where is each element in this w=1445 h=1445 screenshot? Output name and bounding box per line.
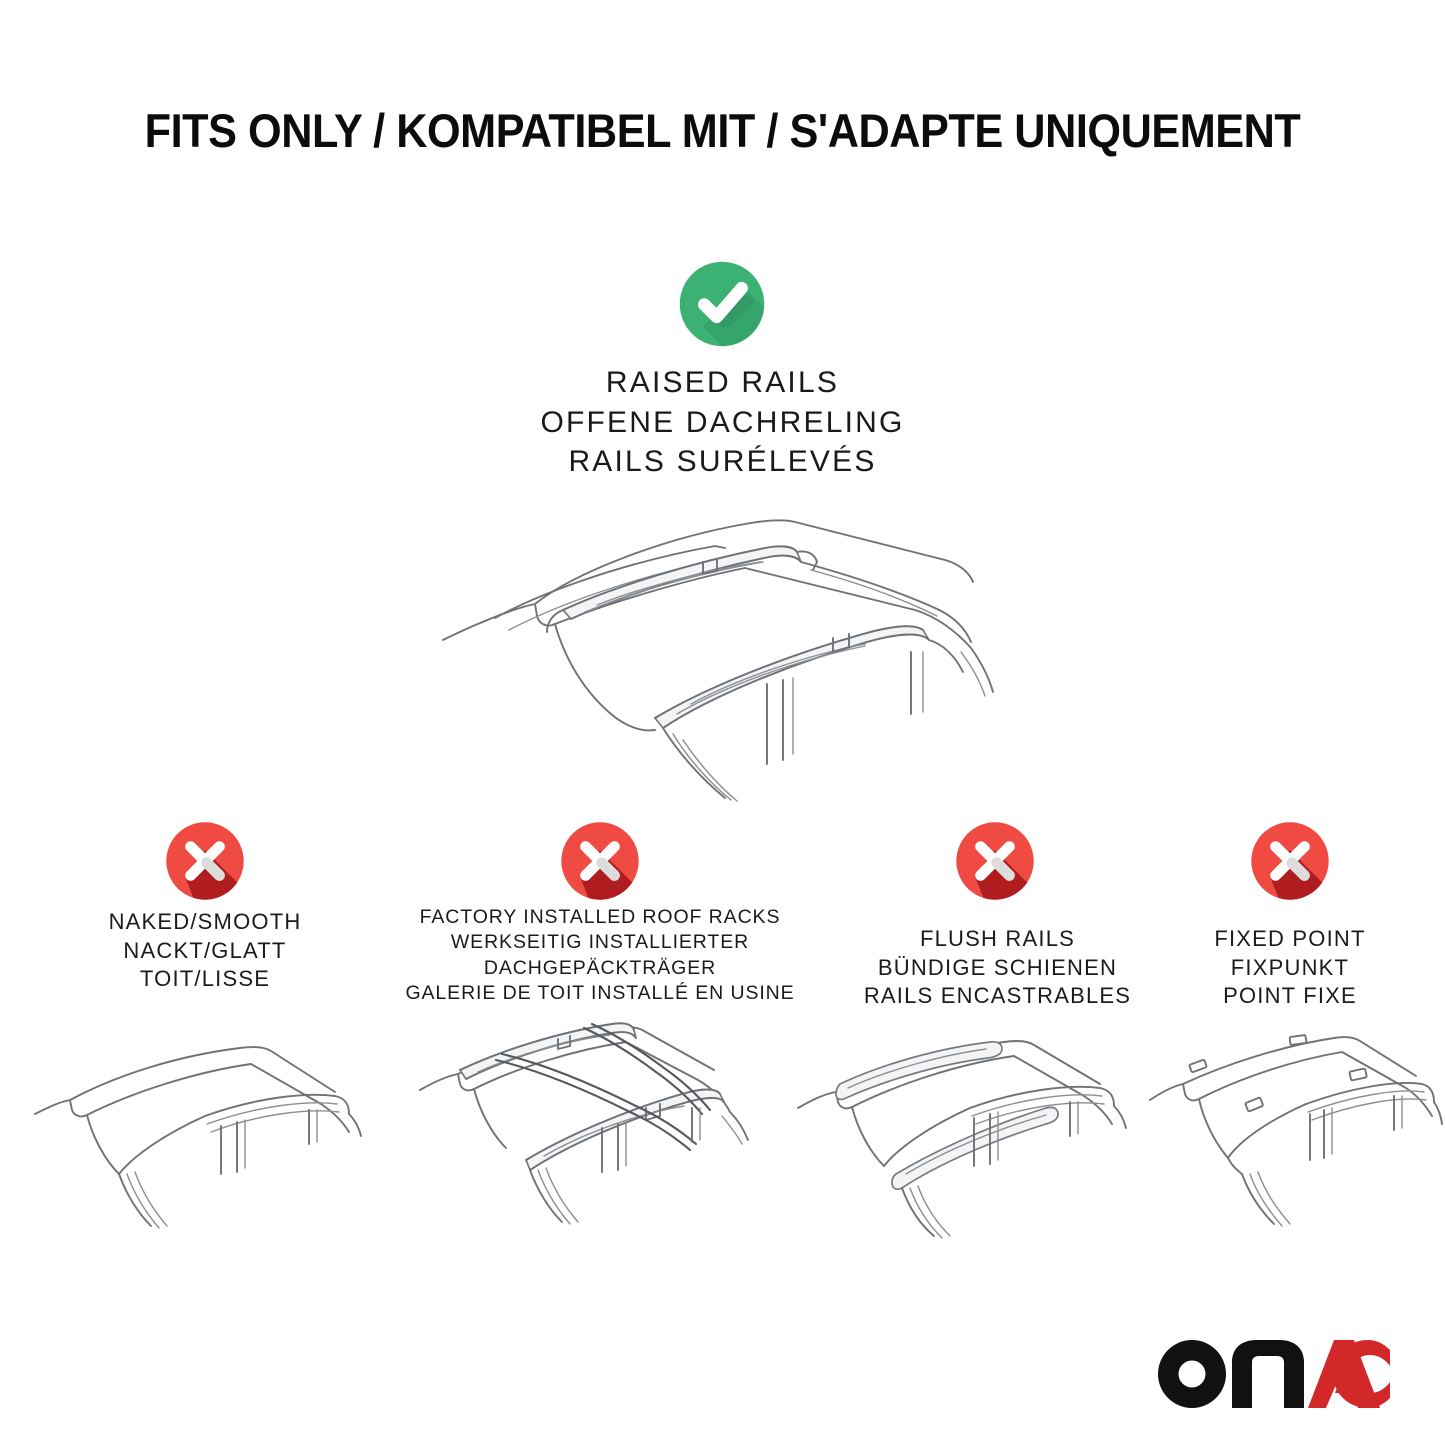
compatible-caption-line-2: OFFENE DACHRELING (0, 403, 1445, 443)
x-circle-icon (1245, 816, 1335, 906)
compatible-caption-line-3: RAILS SURÉLEVÉS (0, 442, 1445, 482)
omac-logo (1158, 1338, 1390, 1410)
car-roof-raised-rails-illustration (415, 492, 1055, 802)
car-roof-fixed-point-illustration (1138, 1022, 1443, 1237)
x-circle-icon (160, 816, 250, 906)
incompatible-1-line-3: TOIT/LISSE (35, 965, 375, 994)
incompatible-2-line-3: DACHGEPÄCKTRÄGER (370, 956, 830, 981)
logo-letter-m (1232, 1340, 1304, 1408)
incompatible-4-line-2: FIXPUNKT (1155, 954, 1425, 983)
check-circle-icon (674, 256, 770, 352)
incompatible-caption-1: NAKED/SMOOTH NACKT/GLATT TOIT/LISSE (35, 908, 375, 994)
incompatible-4-line-1: FIXED POINT (1155, 925, 1425, 954)
incompatible-3-line-2: BÜNDIGE SCHIENEN (825, 954, 1170, 983)
x-circle-icon (950, 816, 1040, 906)
incompatible-2-line-1: FACTORY INSTALLED ROOF RACKS (370, 905, 830, 930)
incompatible-2-line-2: WERKSEITIG INSTALLIERTER (370, 930, 830, 955)
car-roof-factory-roof-racks-illustration (398, 1012, 758, 1237)
compatible-caption: RAISED RAILS OFFENE DACHRELING RAILS SUR… (0, 363, 1445, 482)
car-roof-naked-smooth-illustration (15, 1022, 365, 1237)
page-title: FITS ONLY / KOMPATIBEL MIT / S'ADAPTE UN… (58, 103, 1387, 158)
car-roof-flush-rails-illustration (778, 1022, 1133, 1240)
incompatible-caption-2: FACTORY INSTALLED ROOF RACKS WERKSEITIG … (370, 905, 830, 1006)
incompatible-caption-4: FIXED POINT FIXPUNKT POINT FIXE (1155, 925, 1425, 1011)
incompatible-3-line-3: RAILS ENCASTRABLES (825, 982, 1170, 1011)
incompatible-1-line-2: NACKT/GLATT (35, 937, 375, 966)
incompatible-3-line-1: FLUSH RAILS (825, 925, 1170, 954)
incompatible-2-line-4: GALERIE DE TOIT INSTALLÉ EN USINE (370, 981, 830, 1006)
incompatible-4-line-3: POINT FIXE (1155, 982, 1425, 1011)
incompatible-caption-3: FLUSH RAILS BÜNDIGE SCHIENEN RAILS ENCAS… (825, 925, 1170, 1011)
incompatible-1-line-1: NAKED/SMOOTH (35, 908, 375, 937)
compatible-caption-line-1: RAISED RAILS (0, 363, 1445, 403)
fitment-infographic: FITS ONLY / KOMPATIBEL MIT / S'ADAPTE UN… (0, 0, 1445, 1445)
logo-letter-o (1158, 1340, 1226, 1408)
x-circle-icon (555, 816, 645, 906)
